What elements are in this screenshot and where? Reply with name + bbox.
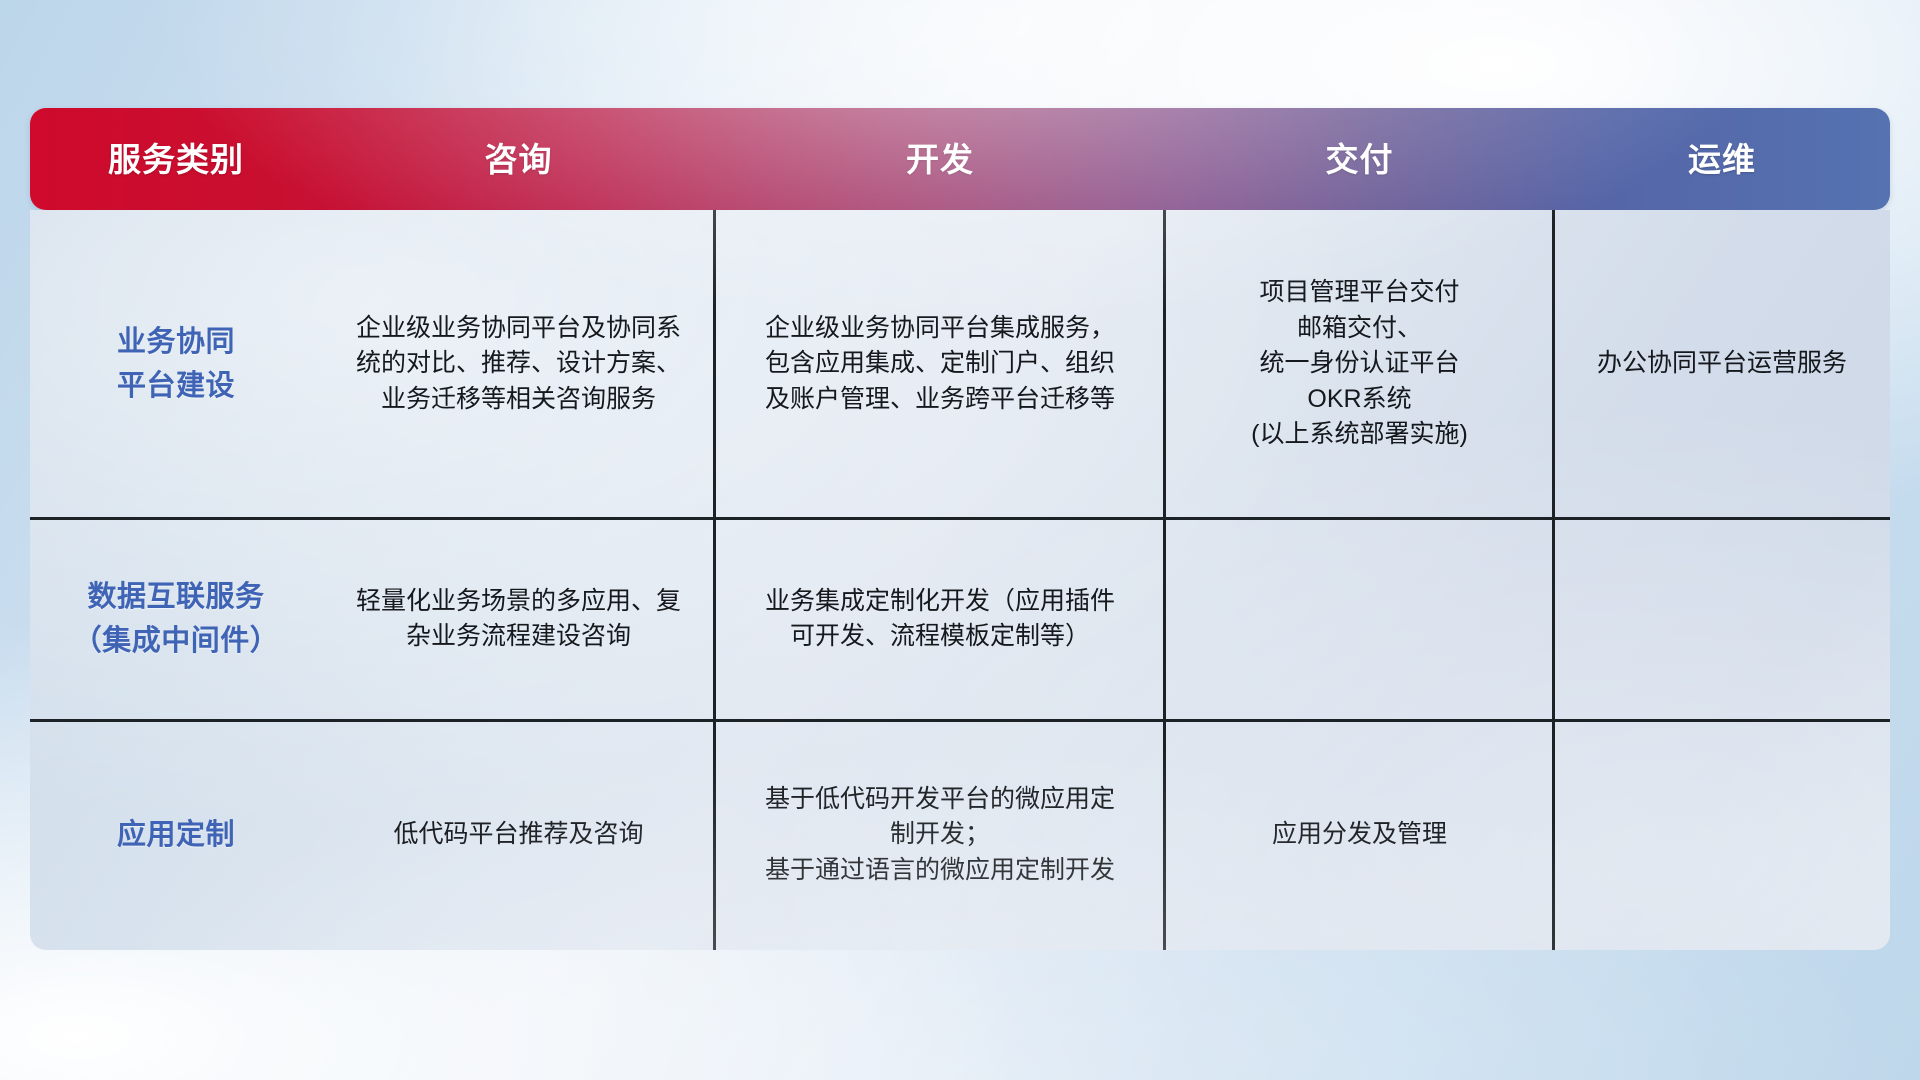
- cell-develop: 基于低代码开发平台的微应用定 制开发； 基于通过语言的微应用定制开发: [715, 782, 1165, 889]
- column-header-develop: 开发: [715, 143, 1165, 176]
- table-row: 数据互联服务 （集成中间件） 轻量化业务场景的多应用、复 杂业务流程建设咨询 业…: [30, 518, 1890, 720]
- cell-develop: 业务集成定制化开发（应用插件 可开发、流程模板定制等）: [715, 584, 1165, 655]
- column-divider: [713, 210, 716, 950]
- column-header-consult: 咨询: [322, 143, 715, 176]
- row-divider: [30, 517, 1890, 520]
- table-row: 业务协同 平台建设 企业级业务协同平台及协同系 统的对比、推荐、设计方案、 业务…: [30, 210, 1890, 518]
- row-category-label: 应用定制: [30, 813, 322, 857]
- column-header-operate: 运维: [1554, 143, 1890, 176]
- row-category-label: 业务协同 平台建设: [30, 320, 322, 408]
- cell-develop: 企业级业务协同平台集成服务， 包含应用集成、定制门户、组织 及账户管理、业务跨平…: [715, 311, 1165, 418]
- column-divider: [1163, 210, 1166, 950]
- table-row: 应用定制 低代码平台推荐及咨询 基于低代码开发平台的微应用定 制开发； 基于通过…: [30, 720, 1890, 950]
- cell-consult: 企业级业务协同平台及协同系 统的对比、推荐、设计方案、 业务迁移等相关咨询服务: [322, 311, 715, 418]
- table-header-row: 服务类别 咨询 开发 交付 运维: [30, 108, 1890, 210]
- cell-consult: 低代码平台推荐及咨询: [322, 817, 715, 853]
- cell-operate: 办公协同平台运营服务: [1554, 346, 1890, 382]
- column-header-deliver: 交付: [1165, 143, 1554, 176]
- row-category-label: 数据互联服务 （集成中间件）: [30, 575, 322, 663]
- column-header-category: 服务类别: [30, 143, 322, 176]
- slide-canvas: 服务类别 咨询 开发 交付 运维 业务协同 平台建设 企业级业务协同平台及协同系…: [0, 0, 1920, 1080]
- cell-consult: 轻量化业务场景的多应用、复 杂业务流程建设咨询: [322, 584, 715, 655]
- row-divider: [30, 719, 1890, 722]
- services-matrix-table: 服务类别 咨询 开发 交付 运维 业务协同 平台建设 企业级业务协同平台及协同系…: [30, 108, 1890, 950]
- table-body: 业务协同 平台建设 企业级业务协同平台及协同系 统的对比、推荐、设计方案、 业务…: [30, 210, 1890, 950]
- column-divider: [1552, 210, 1555, 950]
- cell-deliver: 应用分发及管理: [1165, 817, 1554, 853]
- cell-deliver: 项目管理平台交付 邮箱交付、 统一身份认证平台 OKR系统 (以上系统部署实施): [1165, 275, 1554, 453]
